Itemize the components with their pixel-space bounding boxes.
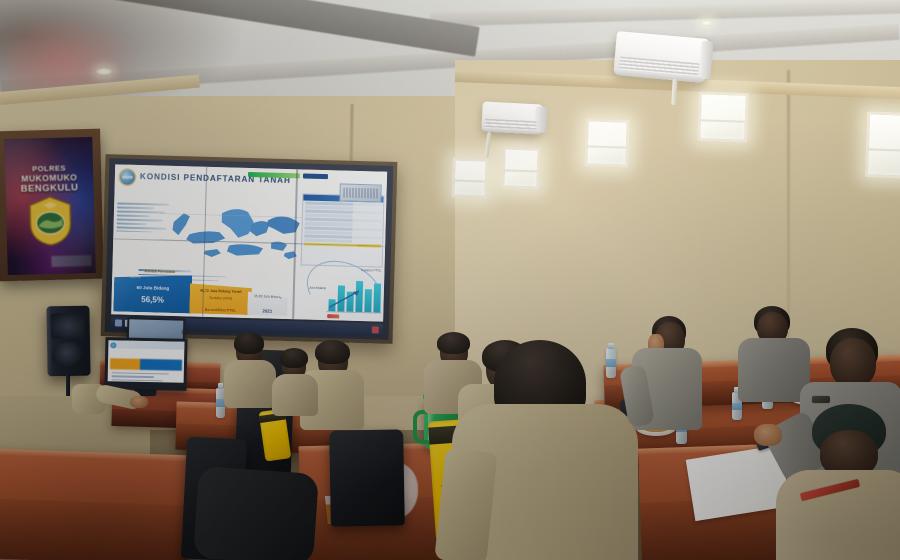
chart-trend-arrow xyxy=(328,288,363,310)
wall-split-air-conditioner xyxy=(481,101,542,134)
funnel-white-line1: 35,82 Juta Bidang xyxy=(248,294,288,299)
funnel-yellow-line1: 45,72 Juta Bidang Tanah xyxy=(190,288,252,294)
indonesia-map-graphic xyxy=(158,192,310,272)
clerestory-window xyxy=(501,146,540,189)
chart-bar xyxy=(373,284,381,313)
funnel-yellow-line2: Terdaftar (43%) xyxy=(190,295,252,301)
slide-left-notes xyxy=(116,202,169,235)
rank-insignia xyxy=(812,396,830,403)
monitor-cable xyxy=(182,330,208,334)
slide-bar-chart: Capaian PTSL Juta Bidang xyxy=(308,266,383,320)
slide-funnel-chart: Jumlah Penduduk 56,5% 60 Juta Bidang 56,… xyxy=(113,269,286,316)
slide-accent-blue xyxy=(303,173,328,179)
desk-front-left xyxy=(0,449,192,560)
funnel-blue-tag: 56,5% xyxy=(130,275,140,279)
chart-bar xyxy=(364,289,372,313)
banner-frame: POLRES MUKOMUKO BENGKULU xyxy=(0,129,104,282)
slide-photo-thumbnail xyxy=(339,183,381,202)
backpack xyxy=(193,466,319,560)
clerestory-window xyxy=(697,91,749,143)
funnel-segment-yellow: 45,72 Juta Bidang Tanah Terdaftar (43%) … xyxy=(189,281,252,315)
start-icon[interactable] xyxy=(115,319,122,326)
clerestory-window xyxy=(865,111,900,178)
atr-bpn-globe-icon xyxy=(120,169,135,184)
clerestory-window xyxy=(584,118,630,168)
operator-desk-monitor xyxy=(104,337,187,391)
funnel-segment-blue: 56,5% 60 Juta Bidang 56,5% xyxy=(113,273,192,313)
funnel-white-line2: 2021 xyxy=(247,308,287,314)
hand xyxy=(130,396,148,408)
atr-bpn-globe-icon xyxy=(110,342,116,348)
pa-speaker xyxy=(46,306,90,377)
funnel-blue-percent: 56,5% xyxy=(113,294,191,305)
clerestory-window xyxy=(451,157,488,198)
meeting-room-photo: POLRES MUKOMUKO BENGKULU KONDISI PENDAFT xyxy=(0,0,900,560)
police-unit-banner: POLRES MUKOMUKO BENGKULU xyxy=(4,137,96,275)
presentation-screen[interactable]: KONDISI PENDAFTARAN TANAH xyxy=(111,164,387,321)
funnel-segment-white: 35,82 Juta Bidang 2021 xyxy=(247,289,288,316)
video-wall-frame: KONDISI PENDAFTARAN TANAH xyxy=(101,154,398,344)
hand xyxy=(754,424,782,446)
arm xyxy=(434,448,497,560)
water-bottle xyxy=(606,348,616,378)
funnel-yellow-line3: Bersertifikat PTSL xyxy=(189,307,251,313)
chart-ylabel: Juta Bidang xyxy=(309,286,327,290)
recessed-downlight xyxy=(700,20,713,26)
chart-title: Capaian PTSL xyxy=(361,268,382,273)
office-chair xyxy=(329,429,405,526)
video-wall-bezel: KONDISI PENDAFTARAN TANAH xyxy=(105,158,394,340)
close-icon[interactable] xyxy=(372,326,379,333)
recessed-downlight xyxy=(96,68,112,75)
funnel-blue-caption: 60 Juta Bidang xyxy=(114,284,192,291)
chart-legend-swatch xyxy=(327,314,339,318)
slide-data-table xyxy=(301,193,385,267)
funnel-header: Jumlah Penduduk xyxy=(144,269,175,274)
wall-split-air-conditioner xyxy=(613,31,708,83)
